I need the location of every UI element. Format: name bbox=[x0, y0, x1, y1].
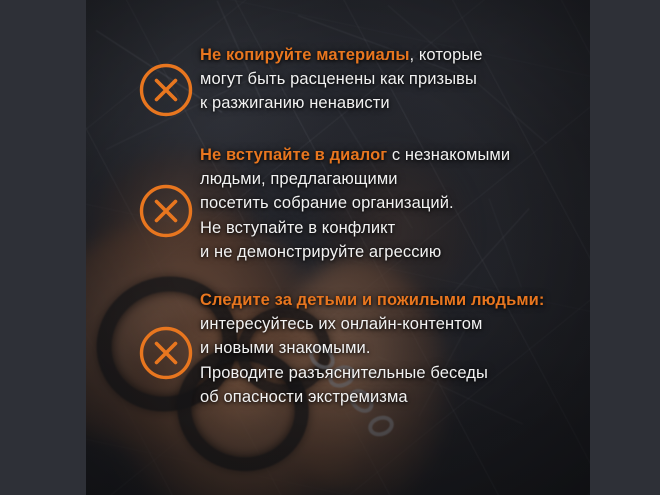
advice-first-line: Не копируйте материалы, которые bbox=[200, 43, 483, 67]
advice-line: об опасности экстремизма bbox=[200, 385, 544, 409]
advice-block-no-dialogue: Не вступайте в диалог с незнакомыми людь… bbox=[138, 142, 510, 280]
cross-circle-icon bbox=[138, 183, 194, 239]
advice-lead: Следите за детьми и пожилыми людьми: bbox=[200, 291, 544, 309]
advice-line: людьми, предлагающими bbox=[200, 167, 510, 191]
advice-block-watch-children-elderly: Следите за детьми и пожилыми людьми: инт… bbox=[138, 287, 544, 419]
advice-text: Не вступайте в диалог с незнакомыми людь… bbox=[200, 142, 510, 264]
advice-icon-slot bbox=[138, 287, 200, 419]
advice-line: посетить собрание организаций. bbox=[200, 191, 510, 215]
advice-icon-slot bbox=[138, 42, 200, 138]
advice-lead-trailing: , которые bbox=[410, 46, 483, 64]
advice-first-line: Не вступайте в диалог с незнакомыми bbox=[200, 143, 510, 167]
advice-lead: Не копируйте материалы bbox=[200, 46, 410, 64]
advice-first-line: Следите за детьми и пожилыми людьми: bbox=[200, 288, 544, 312]
advice-list: Не копируйте материалы, которые могут бы… bbox=[0, 0, 660, 495]
advice-text: Не копируйте материалы, которые могут бы… bbox=[200, 42, 483, 116]
cross-circle-icon bbox=[138, 62, 194, 118]
advice-block-no-copying: Не копируйте материалы, которые могут бы… bbox=[138, 42, 483, 138]
advice-line: и не демонстрируйте агрессию bbox=[200, 240, 510, 264]
advice-line: и новыми знакомыми. bbox=[200, 336, 544, 360]
advice-lead-trailing: с незнакомыми bbox=[387, 146, 510, 164]
advice-line: к разжиганию ненависти bbox=[200, 91, 483, 115]
cross-circle-icon bbox=[138, 325, 194, 381]
advice-line: Не вступайте в конфликт bbox=[200, 216, 510, 240]
advice-line: интересуйтесь их онлайн-контентом bbox=[200, 312, 544, 336]
advice-line: могут быть расценены как призывы bbox=[200, 67, 483, 91]
advice-icon-slot bbox=[138, 142, 200, 280]
advice-text: Следите за детьми и пожилыми людьми: инт… bbox=[200, 287, 544, 409]
advice-line: Проводите разъяснительные беседы bbox=[200, 361, 544, 385]
poster-root: Не копируйте материалы, которые могут бы… bbox=[0, 0, 660, 495]
advice-lead: Не вступайте в диалог bbox=[200, 146, 387, 164]
